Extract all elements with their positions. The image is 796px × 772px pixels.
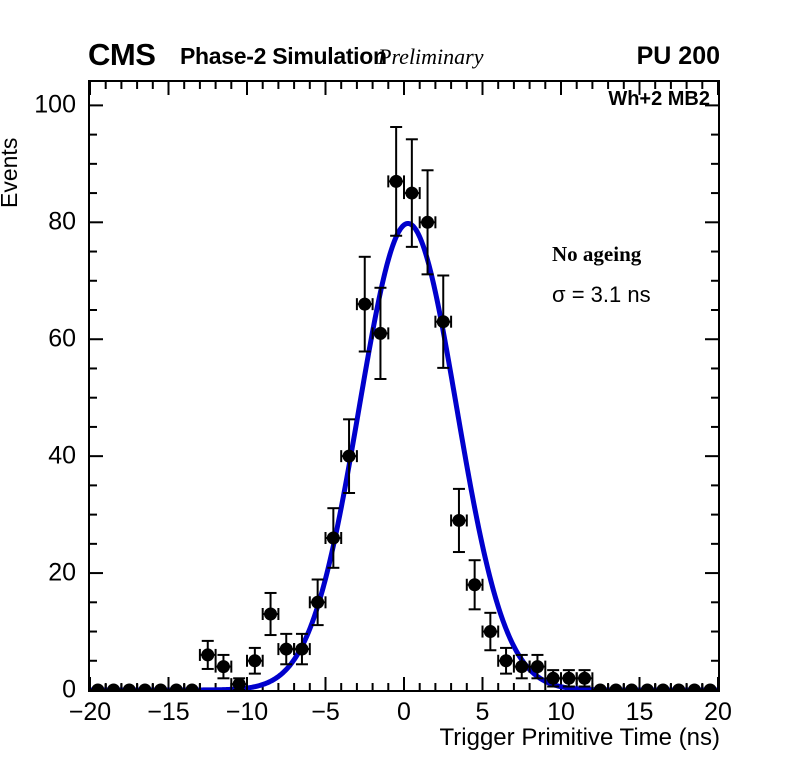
x-tick-label: −10 [226, 698, 268, 727]
data-point [483, 613, 499, 650]
x-tick-label: 10 [547, 698, 575, 727]
plot-frame: Wh+2 MB2 No ageing σ = 3.1 ns [88, 80, 720, 692]
y-axis-title: Events [0, 178, 23, 208]
data-point [514, 655, 530, 678]
data-point [169, 684, 185, 691]
data-point [655, 684, 671, 691]
x-tick-label: 0 [397, 698, 411, 727]
data-point [121, 684, 137, 691]
y-tick-label: 40 [10, 442, 76, 471]
y-tick-label: 0 [10, 676, 76, 705]
pileup-label: PU 200 [637, 40, 720, 72]
data-point [184, 684, 200, 691]
x-tick-label: 5 [476, 698, 490, 727]
region-label: Wh+2 MB2 [608, 88, 710, 111]
data-point [216, 655, 232, 678]
sigma-annotation: σ = 3.1 ns [552, 282, 651, 308]
x-axis-title: Trigger Primitive Time (ns) [0, 724, 796, 752]
simulation-label: Phase-2 Simulation [180, 41, 387, 72]
x-tick-label: −5 [311, 698, 340, 727]
data-point [388, 127, 404, 236]
x-tick-label: −15 [147, 698, 189, 727]
data-point [373, 288, 389, 379]
data-point [577, 670, 593, 686]
data-point [702, 684, 718, 691]
data-point [263, 593, 279, 635]
plot-canvas [90, 82, 718, 690]
data-point [451, 489, 467, 552]
data-point [561, 670, 577, 686]
data-point [106, 684, 122, 691]
data-point [498, 648, 514, 674]
data-point [687, 684, 703, 691]
data-point [420, 170, 436, 274]
data-point [467, 560, 483, 609]
x-tick-label: 20 [704, 698, 732, 727]
data-point [608, 684, 624, 691]
data-point [247, 648, 263, 674]
preliminary-label: Preliminary [378, 42, 484, 72]
data-point [640, 684, 656, 691]
y-tick-label: 100 [10, 91, 76, 120]
data-point [153, 684, 169, 691]
data-point [671, 684, 687, 691]
x-tick-label: 15 [626, 698, 654, 727]
data-point [624, 684, 640, 691]
chart-svg [90, 82, 718, 690]
data-point [90, 684, 106, 691]
cms-logo-text: CMS [88, 38, 155, 72]
y-tick-label: 20 [10, 559, 76, 588]
y-tick-label: 80 [10, 208, 76, 237]
data-point [137, 684, 153, 691]
ageing-annotation: No ageing [552, 242, 641, 267]
y-tick-label: 60 [10, 325, 76, 354]
data-point [200, 641, 216, 669]
plot-header: CMS Phase-2 Simulation Preliminary PU 20… [88, 38, 720, 72]
data-point [592, 684, 608, 691]
